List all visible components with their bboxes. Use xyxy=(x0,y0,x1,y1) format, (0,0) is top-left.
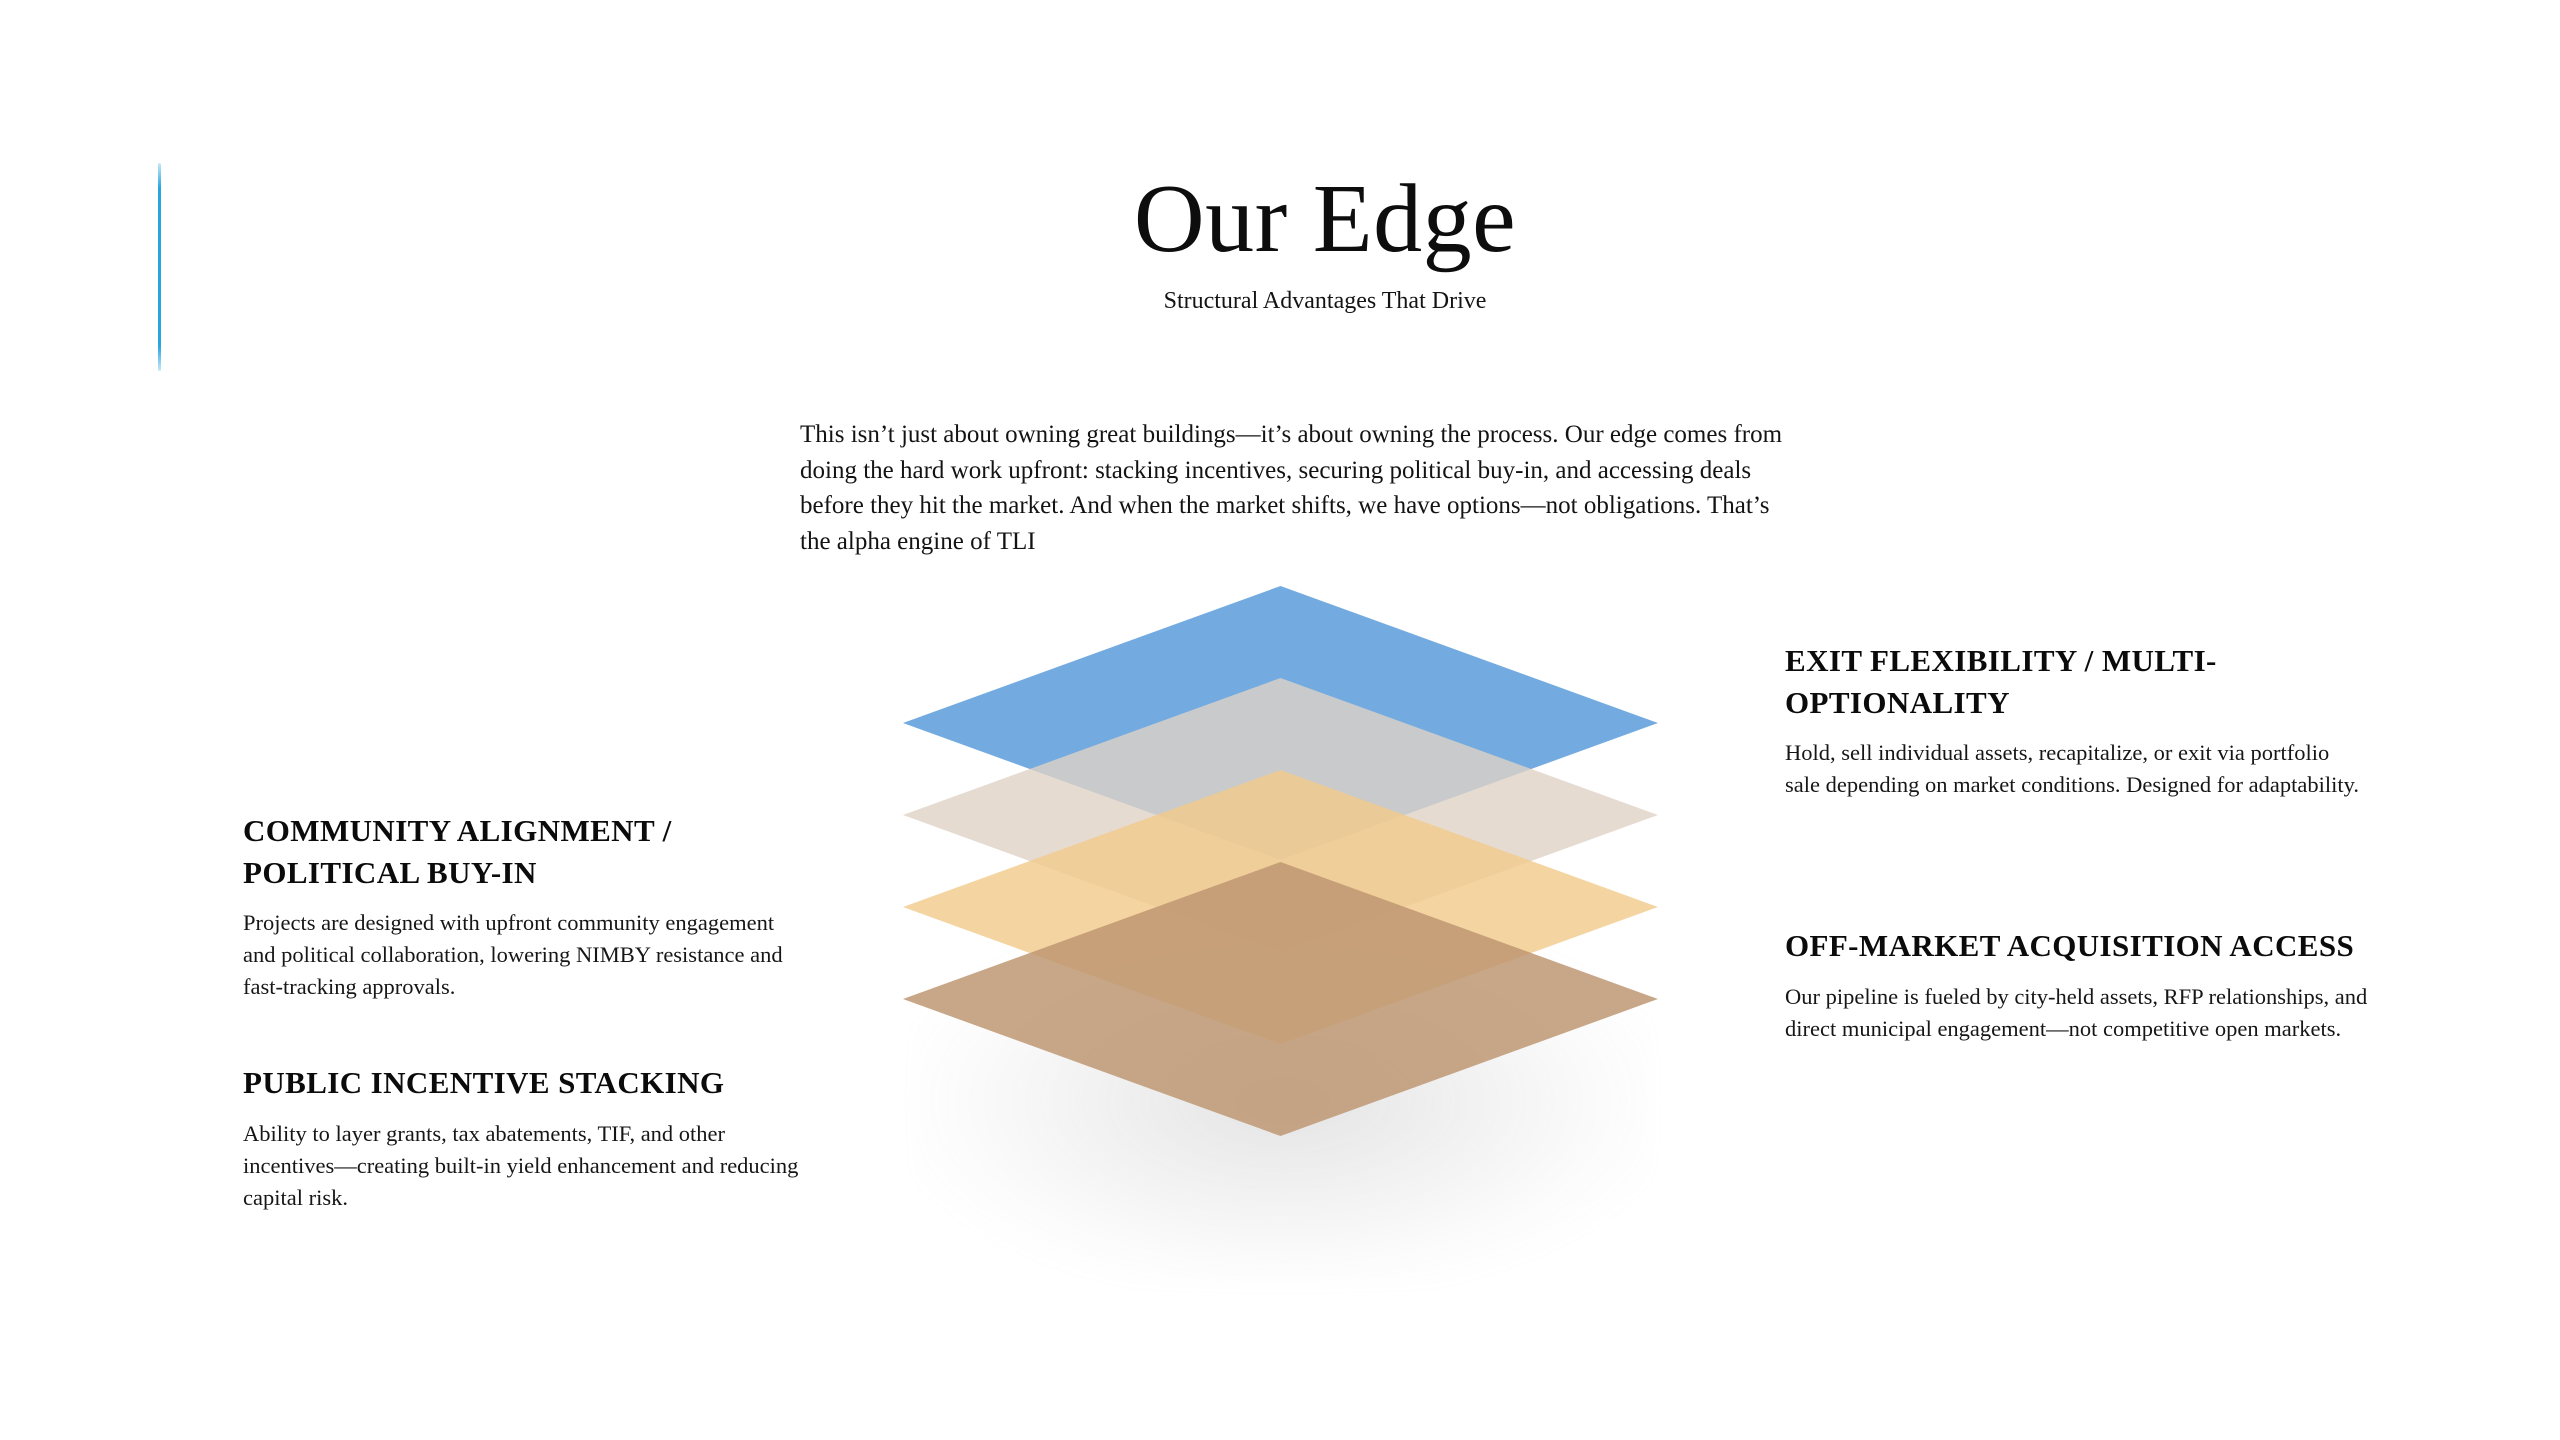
feature-heading: PUBLIC INCENTIVE STACKING xyxy=(243,1062,803,1104)
feature-off-market-acquisition: OFF-MARKET ACQUISITION ACCESS Our pipeli… xyxy=(1785,925,2375,1045)
feature-body: Projects are designed with upfront commu… xyxy=(243,907,803,1004)
feature-heading: COMMUNITY ALIGNMENT / POLITICAL BUY-IN xyxy=(243,810,803,893)
page-subtitle: Structural Advantages That Drive xyxy=(0,286,2560,317)
feature-public-incentive-stacking: PUBLIC INCENTIVE STACKING Ability to lay… xyxy=(243,1062,803,1214)
feature-body: Ability to layer grants, tax abatements,… xyxy=(243,1118,803,1215)
layered-stack-diagram xyxy=(903,586,1663,1286)
intro-paragraph: This isn’t just about owning great build… xyxy=(800,417,1790,559)
page-title: Our Edge xyxy=(0,170,2560,270)
feature-heading: OFF-MARKET ACQUISITION ACCESS xyxy=(1785,925,2375,967)
slide-canvas: Our Edge Structural Advantages That Driv… xyxy=(0,0,2560,1440)
header: Our Edge Structural Advantages That Driv… xyxy=(0,170,2560,317)
feature-community-alignment: COMMUNITY ALIGNMENT / POLITICAL BUY-IN P… xyxy=(243,810,803,1004)
feature-exit-flexibility: EXIT FLEXIBILITY / MULTI-OPTIONALITY Hol… xyxy=(1785,640,2365,801)
feature-body: Hold, sell individual assets, recapitali… xyxy=(1785,737,2365,801)
feature-heading: EXIT FLEXIBILITY / MULTI-OPTIONALITY xyxy=(1785,640,2365,723)
feature-body: Our pipeline is fueled by city-held asse… xyxy=(1785,981,2375,1045)
